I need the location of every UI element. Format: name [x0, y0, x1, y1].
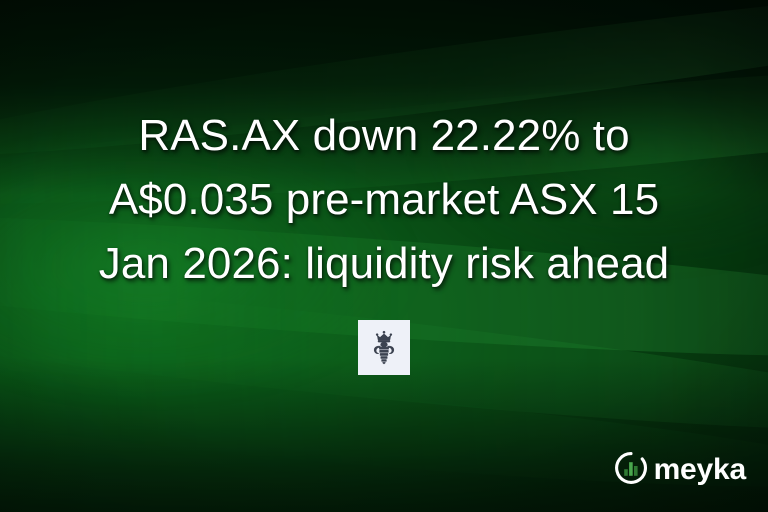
headline: RAS.AX down 22.22% to A$0.035 pre-market… [0, 104, 768, 296]
meyka-bar-chart-ring-icon [614, 451, 648, 490]
brand-logo: meyka [614, 451, 746, 490]
headline-line-3: Jan 2026: liquidity risk ahead [34, 232, 734, 296]
crowned-bee-crest-icon [369, 329, 399, 367]
card-content: RAS.AX down 22.22% to A$0.035 pre-market… [0, 0, 768, 512]
brand-name: meyka [654, 455, 746, 485]
headline-line-2: A$0.035 pre-market ASX 15 [34, 168, 734, 232]
share-card: RAS.AX down 22.22% to A$0.035 pre-market… [0, 0, 768, 512]
company-logo-tile [358, 320, 410, 375]
headline-line-1: RAS.AX down 22.22% to [34, 104, 734, 168]
